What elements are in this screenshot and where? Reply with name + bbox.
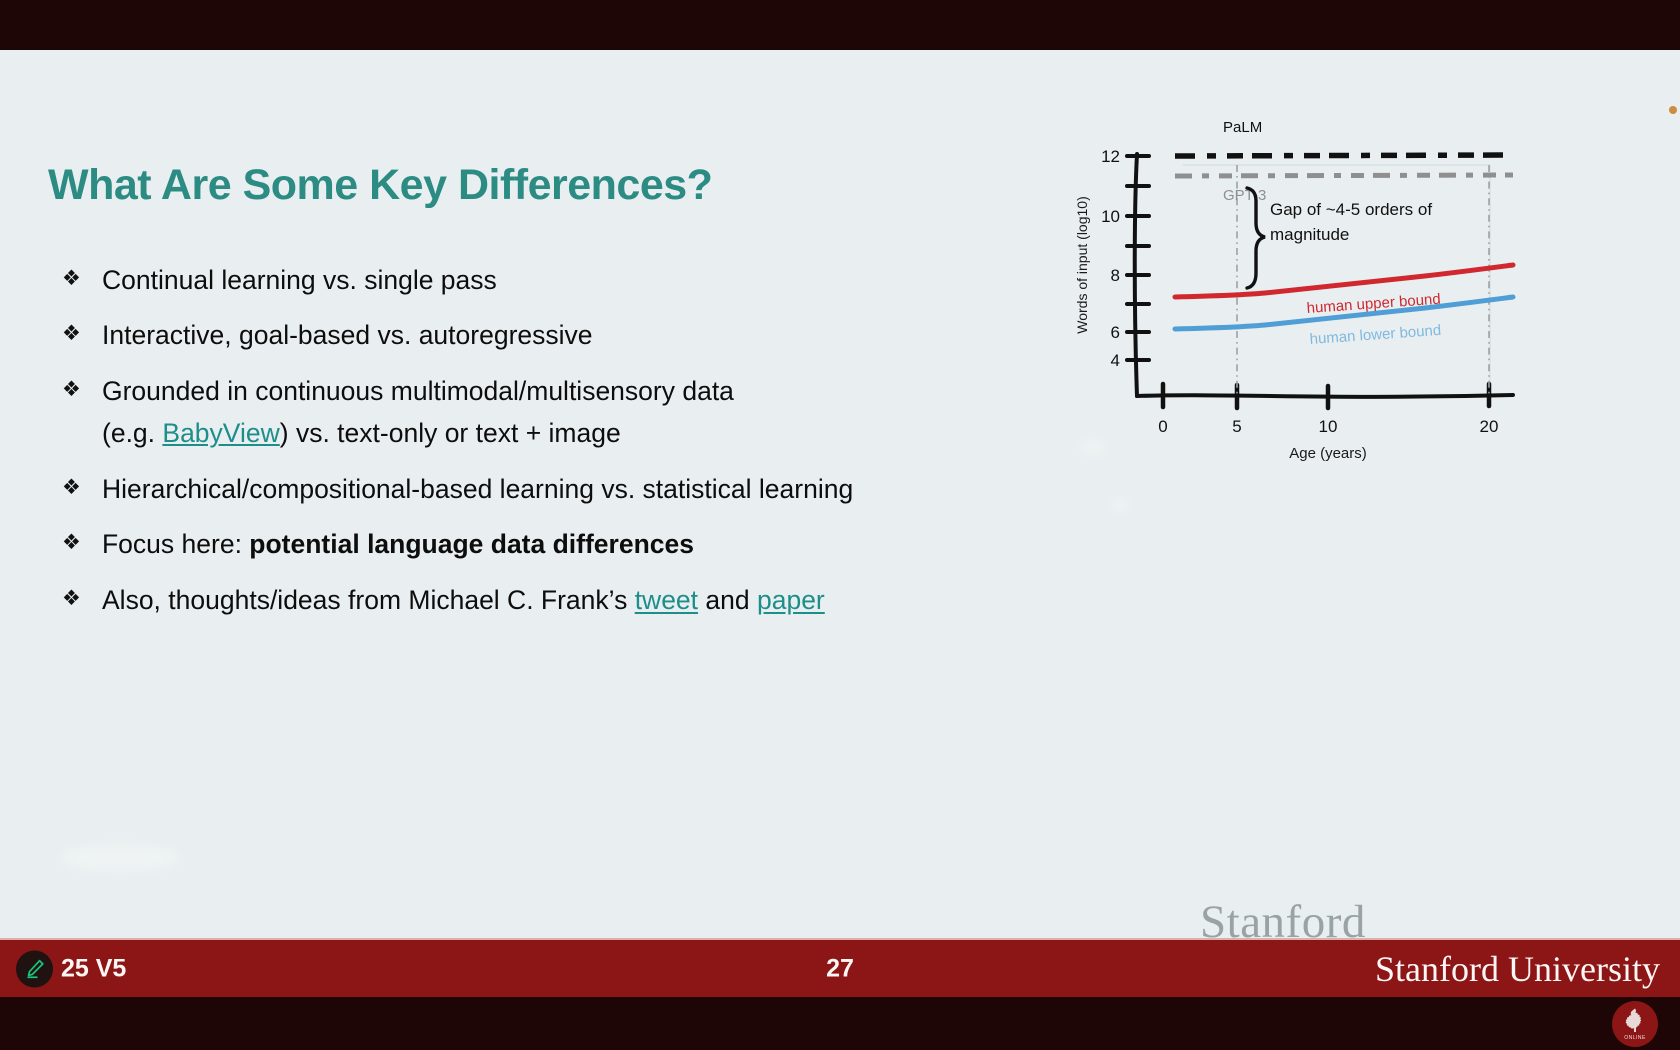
y-tick-8: 8 [1111, 266, 1120, 285]
text-prefix: Focus here: [102, 529, 249, 559]
x-tick-0: 0 [1158, 417, 1167, 436]
page-title: What Are Some Key Differences? [48, 161, 712, 210]
compression-artifact [1110, 500, 1130, 512]
diamond-bullet-icon: ❖ [62, 472, 102, 505]
list-item: ❖ Grounded in continuous multimodal/mult… [62, 374, 1012, 408]
y-axis-label: Words of input (log10) [1074, 196, 1090, 333]
diamond-bullet-icon: ❖ [62, 318, 102, 351]
diamond-bullet-icon: ❖ [62, 374, 102, 407]
text-prefix: Also, thoughts/ideas from Michael C. Fra… [102, 585, 635, 615]
orange-marker-dot [1669, 106, 1677, 114]
y-axis-ticks [1127, 156, 1149, 360]
text-prefix: (e.g. [102, 418, 162, 448]
presentation-slide: What Are Some Key Differences? ❖ Continu… [0, 50, 1680, 997]
letterbox-top [0, 0, 1680, 50]
x-axis-label: Age (years) [1289, 445, 1367, 462]
footer-institution-label: Stanford University [1375, 948, 1660, 990]
list-item-label: Interactive, goal-based vs. autoregressi… [102, 318, 1012, 352]
list-item-label: Grounded in continuous multimodal/multis… [102, 374, 1012, 408]
series-label-gpt3: GPT-3 [1223, 187, 1266, 204]
emphasis-text: potential language data differences [249, 529, 694, 559]
video-player-viewport: What Are Some Key Differences? ❖ Continu… [0, 0, 1680, 1050]
list-item: ❖ Also, thoughts/ideas from Michael C. F… [62, 583, 1012, 617]
list-item: ❖ Continual learning vs. single pass [62, 263, 1012, 297]
y-tick-10: 10 [1101, 207, 1120, 226]
y-axis-tick-labels: 12 10 8 6 4 [1101, 147, 1120, 370]
stanford-online-logo: ONLINE [1612, 1001, 1658, 1047]
list-item: ❖ Interactive, goal-based vs. autoregres… [62, 318, 1012, 352]
diamond-bullet-icon: ❖ [62, 583, 102, 616]
x-tick-20: 20 [1480, 417, 1499, 436]
y-tick-12: 12 [1101, 147, 1120, 166]
list-item-label: Hierarchical/compositional-based learnin… [102, 472, 1012, 506]
paper-link[interactable]: paper [757, 585, 825, 615]
words-of-input-chart: Words of input (log10) 12 10 [1065, 110, 1585, 490]
bullet-spacer [62, 416, 102, 449]
list-item-label: Focus here: potential language data diff… [102, 527, 1012, 561]
series-label-human-lower: human lower bound [1309, 322, 1442, 348]
list-item: ❖ Hierarchical/compositional-based learn… [62, 472, 1012, 506]
y-tick-4: 4 [1111, 351, 1120, 370]
bullet-list: ❖ Continual learning vs. single pass ❖ I… [62, 263, 1012, 638]
list-item: ❖ Focus here: potential language data di… [62, 527, 1012, 561]
stanford-tree-icon [1623, 1007, 1647, 1037]
compression-artifact [60, 845, 180, 871]
gap-annotation-line2: magnitude [1270, 225, 1349, 244]
list-item-label: Continual learning vs. single pass [102, 263, 1012, 297]
letterbox-bottom: ONLINE [0, 997, 1680, 1050]
list-item-continuation: (e.g. BabyView) vs. text-only or text + … [62, 416, 1012, 450]
tweet-link[interactable]: tweet [635, 585, 698, 615]
diamond-bullet-icon: ❖ [62, 527, 102, 560]
series-label-palm: PaLM [1223, 119, 1262, 136]
x-axis-tick-labels: 0 5 10 20 [1158, 417, 1498, 436]
series-line-human-upper [1175, 265, 1513, 297]
list-item-label: (e.g. BabyView) vs. text-only or text + … [102, 416, 1012, 450]
chart-svg: Words of input (log10) 12 10 [1065, 110, 1585, 490]
gap-annotation-line1: Gap of ~4-5 orders of [1270, 200, 1432, 219]
slide-footer-bar: 25 V5 27 Stanford University [0, 938, 1680, 997]
x-tick-10: 10 [1319, 417, 1338, 436]
y-tick-6: 6 [1111, 323, 1120, 342]
text-suffix: ) vs. text-only or text + image [280, 418, 621, 448]
stanford-online-label: ONLINE [1624, 1035, 1646, 1041]
x-tick-5: 5 [1232, 417, 1241, 436]
x-axis-line [1137, 395, 1513, 397]
diamond-bullet-icon: ❖ [62, 263, 102, 296]
series-line-palm [1175, 155, 1513, 156]
text-mid: and [698, 585, 757, 615]
babyview-link[interactable]: BabyView [162, 418, 279, 448]
series-line-gpt3 [1175, 175, 1513, 176]
list-item-label: Also, thoughts/ideas from Michael C. Fra… [102, 583, 1012, 617]
